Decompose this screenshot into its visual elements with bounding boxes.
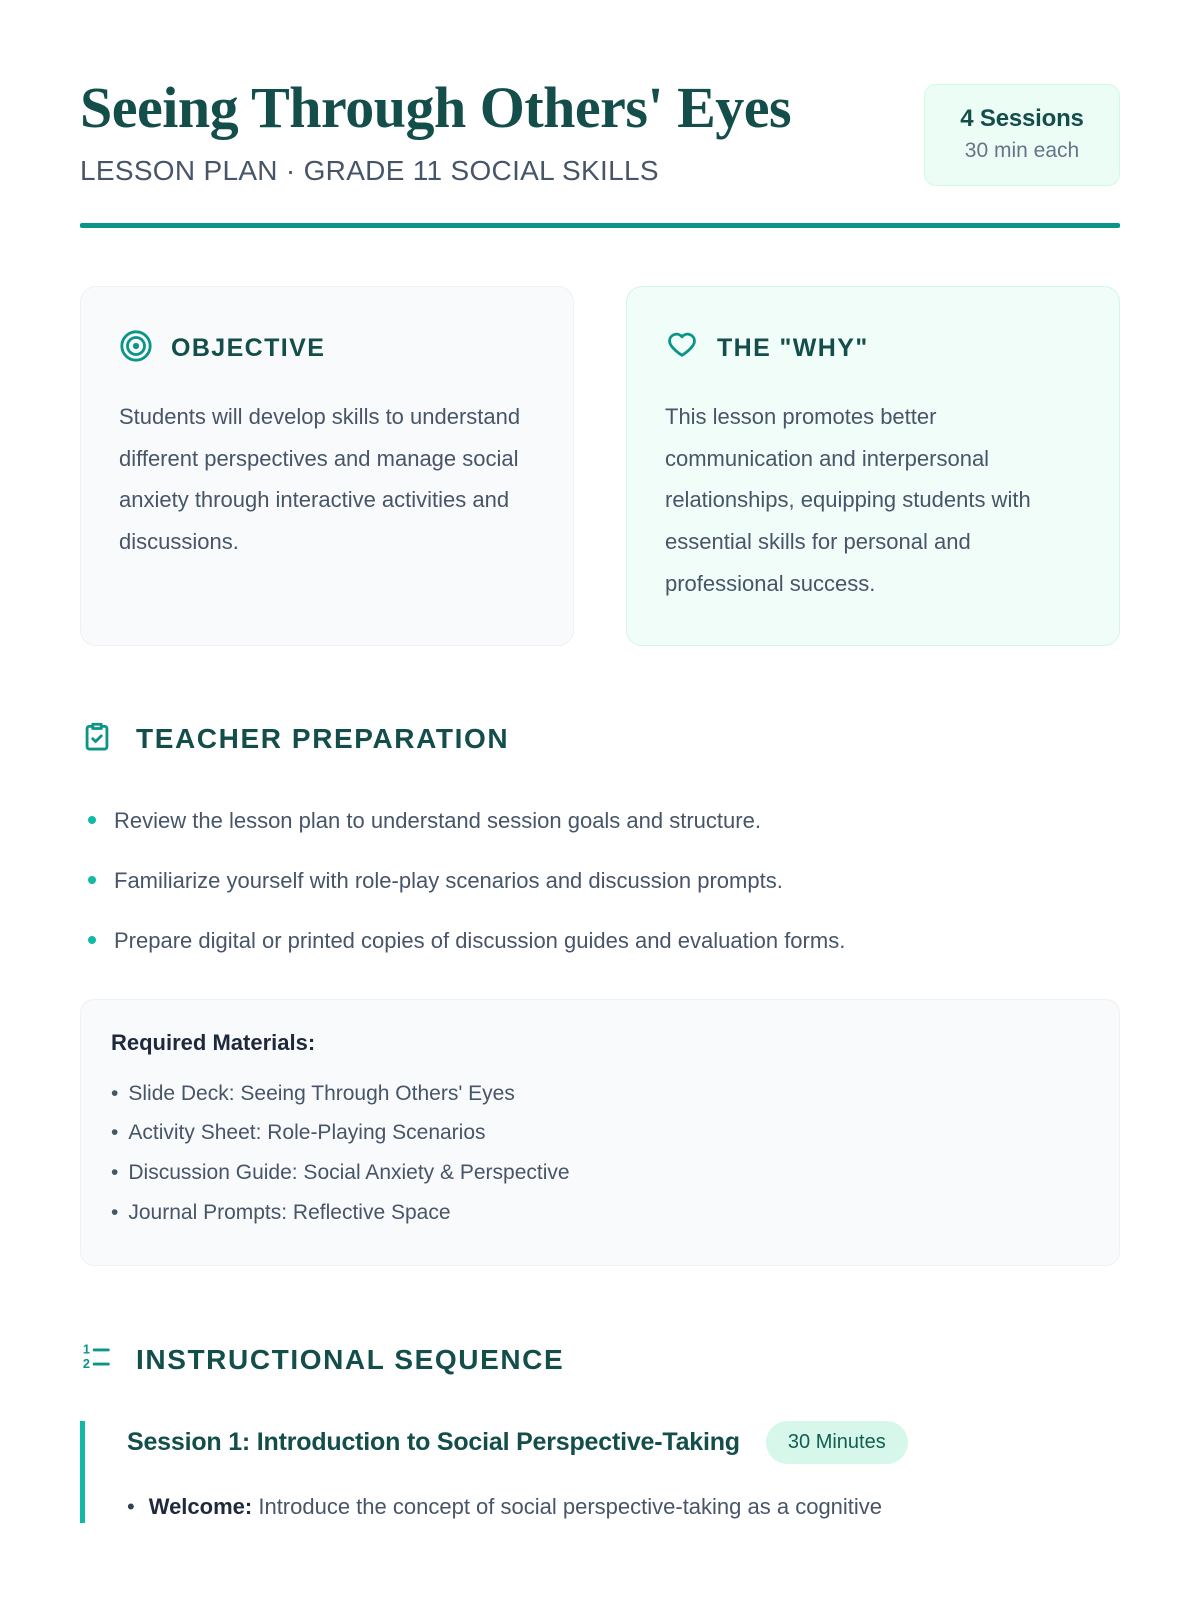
sessions-badge: 4 Sessions 30 min each [924, 84, 1120, 186]
objective-card-title: OBJECTIVE [171, 334, 325, 363]
svg-text:1: 1 [83, 1342, 90, 1357]
session-header: Session 1: Introduction to Social Perspe… [127, 1421, 1120, 1464]
preparation-section-header: TEACHER PREPARATION [80, 720, 1120, 759]
bullet-dot-icon [88, 936, 96, 944]
why-card: THE "WHY" This lesson promotes better co… [626, 286, 1120, 646]
info-cards: OBJECTIVE Students will develop skills t… [80, 286, 1120, 646]
session-bullet-item: • Welcome: Introduce the concept of soci… [127, 1490, 1120, 1523]
list-item: Review the lesson plan to understand ses… [88, 791, 1120, 851]
list-item: Familiarize yourself with role-play scen… [88, 851, 1120, 911]
material-item: Slide Deck: Seeing Through Others' Eyes [111, 1074, 1089, 1114]
session-bullet-body: Introduce the concept of social perspect… [258, 1494, 882, 1519]
list-item: Prepare digital or printed copies of dis… [88, 911, 1120, 971]
header-divider [80, 223, 1120, 228]
session-title: Session 1: Introduction to Social Perspe… [127, 1428, 740, 1457]
bullet-dot-icon [88, 816, 96, 824]
target-icon [119, 329, 153, 368]
list-item-text: Familiarize yourself with role-play scen… [114, 865, 783, 897]
session-bullet-text: Welcome: Introduce the concept of social… [149, 1490, 882, 1523]
why-card-body: This lesson promotes better communicatio… [665, 396, 1081, 605]
header-text-group: Seeing Through Others' Eyes LESSON PLAN … [80, 78, 924, 187]
session-bullet-lead: Welcome: [149, 1494, 253, 1519]
sessions-duration: 30 min each [951, 139, 1093, 163]
session-duration-badge: 30 Minutes [766, 1421, 908, 1464]
required-materials-title: Required Materials: [111, 1030, 1089, 1056]
document-header: Seeing Through Others' Eyes LESSON PLAN … [80, 0, 1120, 187]
page-subtitle: LESSON PLAN · GRADE 11 SOCIAL SKILLS [80, 155, 924, 187]
session-block: Session 1: Introduction to Social Perspe… [80, 1421, 1120, 1523]
sequence-section-header: 1 2 INSTRUCTIONAL SEQUENCE [80, 1340, 1120, 1379]
sessions-count: 4 Sessions [951, 105, 1093, 133]
session-bullet-list: • Welcome: Introduce the concept of soci… [127, 1490, 1120, 1523]
svg-text:2: 2 [83, 1356, 90, 1371]
preparation-section-title: TEACHER PREPARATION [136, 723, 509, 755]
bullet-dot-icon [88, 876, 96, 884]
heart-icon [665, 329, 699, 368]
material-item: Activity Sheet: Role-Playing Scenarios [111, 1113, 1089, 1153]
material-item: Discussion Guide: Social Anxiety & Persp… [111, 1153, 1089, 1193]
objective-card-header: OBJECTIVE [119, 329, 535, 368]
objective-card-body: Students will develop skills to understa… [119, 396, 535, 563]
material-item: Journal Prompts: Reflective Space [111, 1193, 1089, 1233]
bullet-dot-icon: • [127, 1490, 135, 1523]
sequence-section-title: INSTRUCTIONAL SEQUENCE [136, 1344, 564, 1376]
page-title: Seeing Through Others' Eyes [80, 78, 924, 139]
objective-card: OBJECTIVE Students will develop skills t… [80, 286, 574, 646]
why-card-header: THE "WHY" [665, 329, 1081, 368]
preparation-list: Review the lesson plan to understand ses… [80, 791, 1120, 971]
why-card-title: THE "WHY" [717, 334, 869, 363]
ordered-list-icon: 1 2 [80, 1340, 114, 1379]
list-item-text: Review the lesson plan to understand ses… [114, 805, 761, 837]
list-item-text: Prepare digital or printed copies of dis… [114, 925, 845, 957]
clipboard-check-icon [80, 720, 114, 759]
required-materials-box: Required Materials: Slide Deck: Seeing T… [80, 999, 1120, 1267]
